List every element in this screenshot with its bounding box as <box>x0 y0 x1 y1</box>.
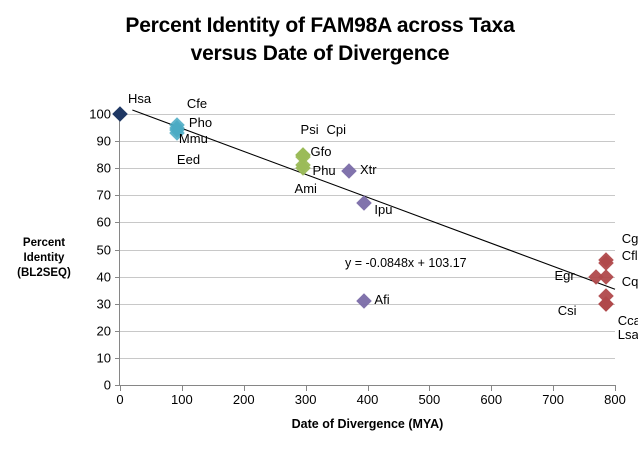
x-axis-tick-label: 500 <box>419 392 441 407</box>
data-label-cfe: Cfe <box>187 97 207 110</box>
y-axis-tick-label: 90 <box>97 134 111 149</box>
x-axis-tick <box>491 386 492 391</box>
data-label-ipu: Ipu <box>374 203 392 216</box>
data-label-cgi: Cgi <box>622 232 638 245</box>
x-axis-tick-label: 700 <box>542 392 564 407</box>
plot-area: 0102030405060708090100 01002003004005006… <box>120 114 615 385</box>
x-axis-tick-label: 100 <box>171 392 193 407</box>
y-axis-title-line-2: Identity <box>6 251 82 266</box>
data-label-hsa: Hsa <box>128 92 151 105</box>
data-label-ami: Ami <box>295 182 317 195</box>
y-axis-tick-label: 70 <box>97 188 111 203</box>
x-axis-tick <box>553 386 554 391</box>
x-axis-tick <box>182 386 183 391</box>
y-axis-tick-label: 30 <box>97 296 111 311</box>
y-axis-title-line-3: (BL2SEQ) <box>6 266 82 281</box>
y-axis-tick-label: 100 <box>89 107 111 122</box>
x-axis-tick-label: 800 <box>604 392 626 407</box>
x-axis-tick-label: 200 <box>233 392 255 407</box>
data-label-cca: Cca <box>618 314 638 327</box>
data-label-cfl: Cfl <box>622 249 638 262</box>
chart-title: Percent Identity of FAM98A across Taxa v… <box>40 12 600 68</box>
y-axis-tick-label: 50 <box>97 242 111 257</box>
data-label-csi: Csi <box>558 304 577 317</box>
chart-title-line-1: Percent Identity of FAM98A across Taxa <box>125 14 514 37</box>
data-label-psi: Psi <box>301 123 319 136</box>
data-label-cqu: Cqu <box>622 275 638 288</box>
x-axis-tick-label: 400 <box>357 392 379 407</box>
data-label-gfo: Gfo <box>311 145 332 158</box>
data-label-pho: Pho <box>189 116 212 129</box>
y-axis-tick-label: 60 <box>97 215 111 230</box>
x-axis-tick <box>368 386 369 391</box>
x-axis-tick <box>306 386 307 391</box>
data-label-lsa: Lsa <box>618 328 638 341</box>
x-axis-tick-label: 0 <box>116 392 123 407</box>
y-axis-tick-label: 80 <box>97 161 111 176</box>
x-axis-title: Date of Divergence (MYA) <box>120 417 615 431</box>
data-label-afi: Afi <box>374 293 389 306</box>
scatter-chart: Percent Identity of FAM98A across Taxa v… <box>0 0 638 461</box>
data-label-xtr: Xtr <box>360 163 377 176</box>
x-axis-tick-label: 300 <box>295 392 317 407</box>
y-axis-tick-label: 0 <box>104 378 111 393</box>
x-axis-tick-label: 600 <box>480 392 502 407</box>
y-axis-title: Percent Identity (BL2SEQ) <box>6 236 82 281</box>
y-axis-tick-label: 40 <box>97 269 111 284</box>
x-axis-tick <box>120 386 121 391</box>
x-axis-tick <box>244 386 245 391</box>
data-label-egr: Egr <box>554 269 574 282</box>
trendline-equation: y = -0.0848x + 103.17 <box>345 256 467 270</box>
x-axis-tick <box>615 386 616 391</box>
data-label-phu: Phu <box>313 164 336 177</box>
y-axis-tick-label: 10 <box>97 350 111 365</box>
y-axis-title-line-1: Percent <box>6 236 82 251</box>
data-label-eed: Eed <box>177 153 200 166</box>
data-label-cpi: Cpi <box>327 123 347 136</box>
data-label-mmu: Mmu <box>179 132 208 145</box>
chart-title-line-2: versus Date of Divergence <box>40 40 600 68</box>
y-axis-tick-label: 20 <box>97 323 111 338</box>
x-axis-tick <box>429 386 430 391</box>
